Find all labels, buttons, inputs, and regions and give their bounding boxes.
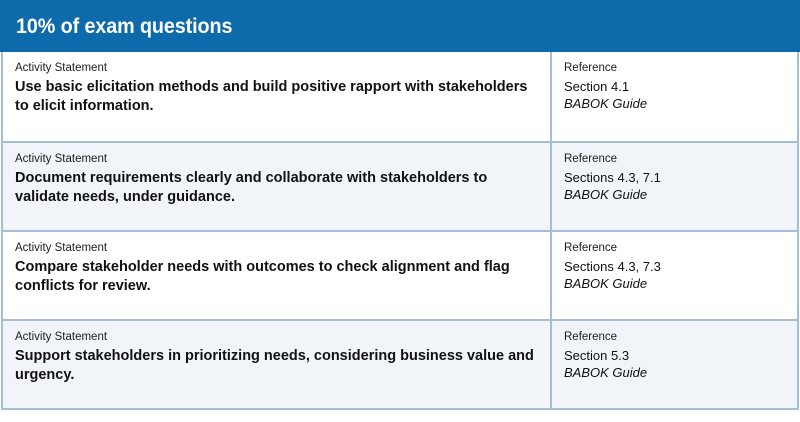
reference-section-text: Section 4.1: [564, 78, 787, 95]
activity-statement-text: Compare stakeholder needs with outcomes …: [15, 258, 536, 297]
table-row: Activity Statement Compare stakeholder n…: [3, 230, 797, 319]
activity-statement-cell: Activity Statement Support stakeholders …: [3, 321, 552, 408]
section-header-bar: 10% of exam questions: [0, 0, 800, 52]
reference-cell: Reference Sections 4.3, 7.3 BABOK Guide: [552, 232, 797, 319]
activity-statement-cell: Activity Statement Compare stakeholder n…: [3, 232, 552, 319]
activity-statement-label: Activity Statement: [15, 330, 536, 346]
exam-blueprint-sheet: 10% of exam questions Activity Statement…: [0, 0, 800, 422]
table-row: Activity Statement Support stakeholders …: [3, 319, 797, 408]
reference-label: Reference: [564, 330, 787, 346]
reference-section-text: Section 5.3: [564, 347, 787, 364]
reference-source-text: BABOK Guide: [564, 364, 787, 381]
reference-section-text: Sections 4.3, 7.3: [564, 258, 787, 275]
activity-statement-label: Activity Statement: [15, 152, 536, 168]
activity-statement-text: Use basic elicitation methods and build …: [15, 78, 536, 117]
reference-section-text: Sections 4.3, 7.1: [564, 169, 787, 186]
activity-statement-text: Support stakeholders in prioritizing nee…: [15, 347, 536, 386]
reference-source-text: BABOK Guide: [564, 186, 787, 203]
reference-label: Reference: [564, 152, 787, 168]
reference-label: Reference: [564, 241, 787, 257]
activity-statement-label: Activity Statement: [15, 241, 536, 257]
reference-cell: Reference Sections 4.3, 7.1 BABOK Guide: [552, 143, 797, 230]
activity-statement-text: Document requirements clearly and collab…: [15, 169, 536, 208]
table-row: Activity Statement Document requirements…: [3, 141, 797, 230]
activity-statement-cell: Activity Statement Use basic elicitation…: [3, 52, 552, 141]
table-row: Activity Statement Use basic elicitation…: [3, 52, 797, 141]
activity-statement-cell: Activity Statement Document requirements…: [3, 143, 552, 230]
reference-source-text: BABOK Guide: [564, 95, 787, 112]
reference-source-text: BABOK Guide: [564, 275, 787, 292]
page-title: 10% of exam questions: [16, 16, 232, 37]
activity-statement-table: Activity Statement Use basic elicitation…: [1, 52, 799, 410]
reference-cell: Reference Section 4.1 BABOK Guide: [552, 52, 797, 141]
reference-cell: Reference Section 5.3 BABOK Guide: [552, 321, 797, 408]
activity-statement-label: Activity Statement: [15, 61, 536, 77]
reference-label: Reference: [564, 61, 787, 77]
